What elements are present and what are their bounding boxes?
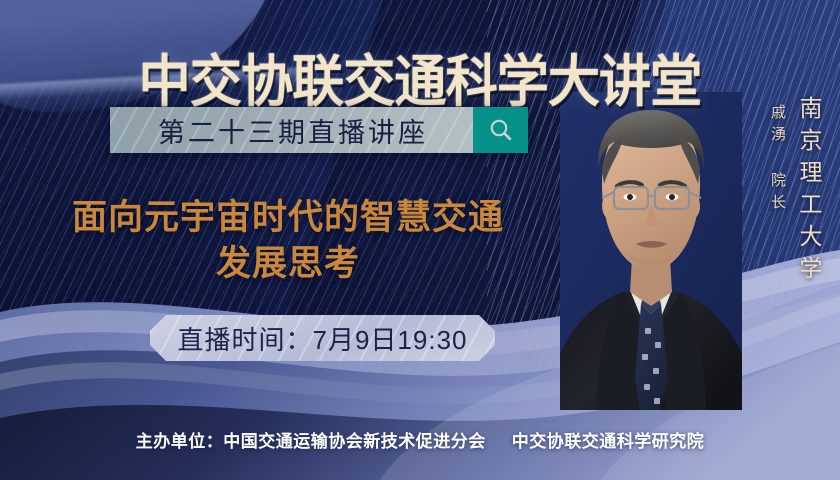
broadcast-time-banner: 直播时间：7月9日19:30 [150,315,495,361]
headline-line-1: 面向元宇宙时代的智慧交通 [28,195,548,241]
livestream-poster: 中交协联交通科学大讲堂 第二十三期直播讲座 面向元宇宙时代的智慧交通 发展思考 … [0,0,840,480]
organizer-prefix: 主办单位： [136,432,224,451]
lecture-headline: 面向元宇宙时代的智慧交通 发展思考 [28,195,548,287]
speaker-affiliation: 南京理工大学 [792,96,826,288]
episode-label: 第二十三期直播讲座 [155,111,428,150]
search-button[interactable] [473,107,528,153]
page-title: 中交协联交通科学大讲堂 [29,54,810,110]
speaker-portrait [560,92,742,410]
organizer-name-2: 中交协联交通科学研究院 [512,432,705,451]
search-icon [488,117,514,143]
organizers-footer: 主办单位：中国交通运输协会新技术促进分会中交协联交通科学研究院 [0,427,840,452]
headline-line-2: 发展思考 [28,241,548,287]
broadcast-time-text: 直播时间：7月9日19:30 [178,320,468,357]
episode-banner: 第二十三期直播讲座 [110,107,528,153]
episode-label-zone: 第二十三期直播讲座 [110,107,473,153]
organizer-name-1: 中国交通运输协会新技术促进分会 [223,432,486,451]
speaker-name-title: 戚湧 院长 [767,104,788,216]
